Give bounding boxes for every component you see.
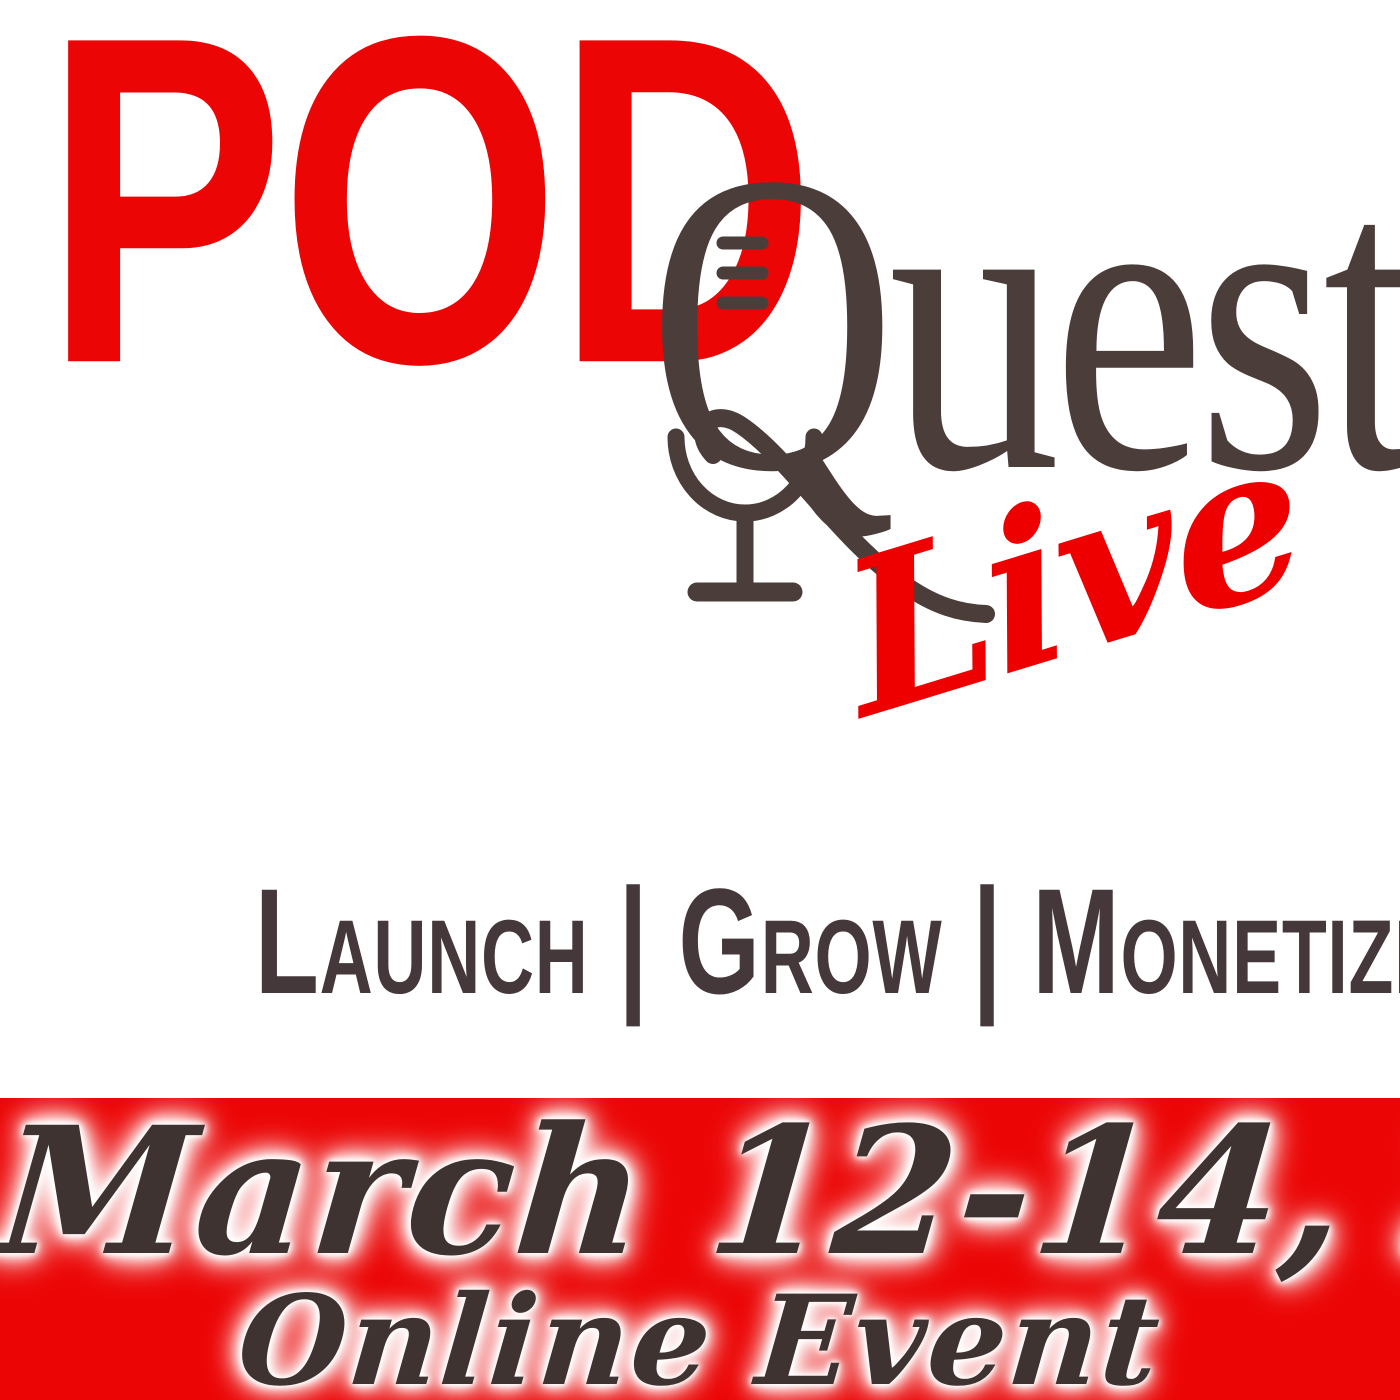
date-banner: March 12-14, 2021 Online Event	[0, 1098, 1400, 1400]
event-type-row: Online Event	[0, 1280, 1400, 1400]
event-date-row: March 12-14, 2021	[0, 1104, 1400, 1280]
event-date: March 12-14, 2021	[0, 1104, 1400, 1280]
tagline: Launch | Grow | Monetize	[0, 866, 1400, 1016]
tagline-text: Launch | Grow | Monetize	[255, 866, 1400, 1016]
event-type: Online Event	[234, 1280, 1166, 1400]
logo-lockup: POD Quest Live	[0, 0, 1400, 810]
podquest-live-poster: POD Quest Live Launch | Gr	[0, 0, 1400, 1400]
